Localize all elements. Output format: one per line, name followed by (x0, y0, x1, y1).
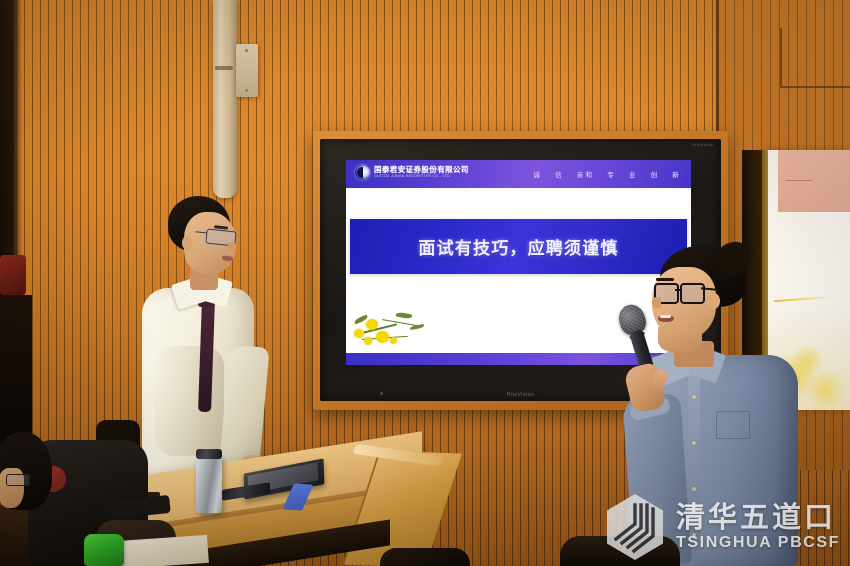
slogan-word-1: 信 (555, 169, 564, 179)
speaker-mount-bracket (236, 44, 258, 97)
glasses-bridge (675, 289, 680, 291)
wall-speaker-icon (213, 0, 237, 198)
flower-petal (376, 331, 389, 343)
foreground-paper (115, 535, 209, 566)
banner-pink-block (778, 150, 850, 212)
presenter-right-brow (656, 278, 674, 281)
glasses-icon (6, 474, 30, 486)
slide-main-title: 面试有技巧，应聘须谨慎 (418, 234, 618, 259)
flower-petal (390, 337, 397, 344)
presenter-left (128, 196, 276, 486)
shirt-pocket (716, 411, 750, 439)
presenter-left-shirt-fold (154, 346, 224, 456)
glasses-icon (654, 283, 702, 300)
green-bottle-cap (84, 534, 124, 566)
flower-decoration (352, 309, 448, 349)
company-name-en: GUOTAI JUNAN SECURITIES CO., LTD. (374, 175, 469, 179)
presenter-right-nose (652, 297, 661, 308)
wall-notch (780, 28, 850, 88)
left-dark-panel (0, 295, 32, 445)
company-logo-group: 国泰君安证券股份有限公司 GUOTAI JUNAN SECURITIES CO.… (355, 165, 469, 180)
flower-petal (366, 319, 378, 330)
thermos-icon (196, 455, 222, 513)
flower-petal (364, 337, 372, 345)
presenter-right-chin (658, 327, 702, 353)
slogan-word-4: 业 (629, 169, 638, 179)
left-red-object (0, 255, 26, 295)
thermos-lid (196, 449, 222, 459)
company-name-group: 国泰君安证券股份有限公司 GUOTAI JUNAN SECURITIES CO.… (374, 166, 469, 178)
slogan-word-2: 亲和 (577, 169, 594, 179)
hexagon-chevron-logo-icon (604, 493, 666, 561)
photo-scene: HiteVision HiteVision 国泰君安证券股份有限公司 GUOTA… (0, 0, 850, 566)
company-name-cn: 国泰君安证券股份有限公司 (374, 166, 469, 174)
glasses-lens-right (680, 283, 705, 304)
shirt-button (692, 441, 696, 445)
slogan-word-0: 诚 (533, 169, 542, 179)
venue-watermark: 清华五道口 TSINGHUA PBCSF (604, 492, 842, 562)
display-brand-corner: HiteVision (692, 142, 714, 147)
foreground-figure-center (380, 548, 470, 566)
presenter-left-nose (228, 242, 236, 251)
watermark-text-group: 清华五道口 TSINGHUA PBCSF (676, 502, 840, 551)
slogan-word-3: 专 (607, 169, 616, 179)
watermark-chinese: 清华五道口 (676, 502, 840, 532)
shirt-button (692, 487, 696, 491)
circle-yinyang-logo-icon (355, 165, 370, 180)
display-brand-logo: HiteVision (507, 392, 534, 398)
speaker-slot (215, 66, 233, 70)
presenter-right-teeth (660, 315, 671, 318)
presenter-left-ear (182, 236, 192, 250)
flower-petal (354, 329, 364, 338)
flower-leaf (396, 311, 413, 319)
slide-header: 国泰君安证券股份有限公司 GUOTAI JUNAN SECURITIES CO.… (346, 160, 691, 188)
slogan-word-5: 创 (651, 169, 660, 179)
display-power-led (380, 392, 383, 395)
presenter-right-ear (708, 293, 720, 309)
slogan-word-6: 新 (672, 169, 681, 179)
shirt-button (692, 395, 696, 399)
slogan-group: 诚 信 亲和 专 业 创 新 (533, 169, 681, 179)
watermark-english: TSINGHUA PBCSF (676, 534, 840, 552)
